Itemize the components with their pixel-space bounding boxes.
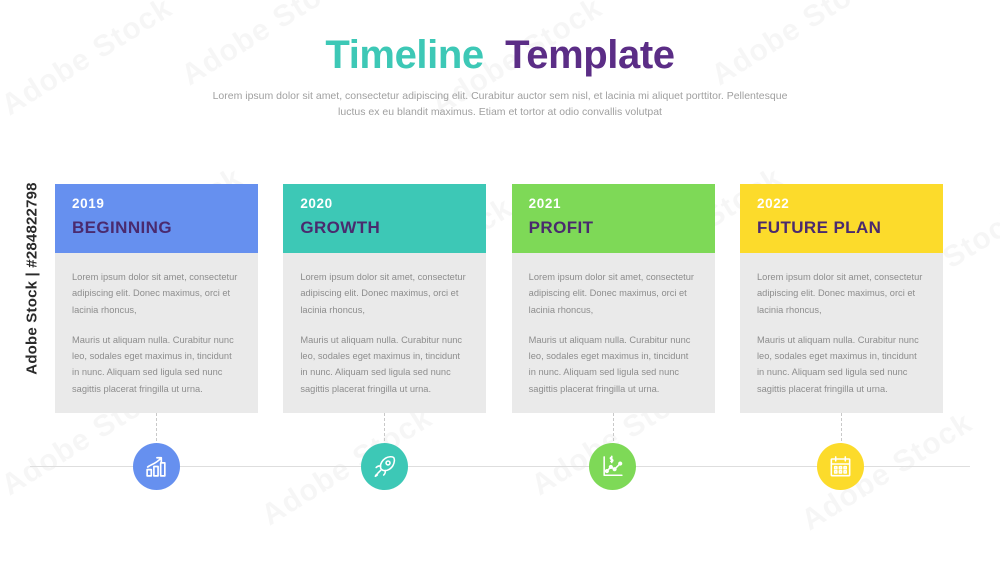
card-body: Lorem ipsum dolor sit amet, consectetur … [55, 253, 258, 413]
page-title: Timeline Template [0, 32, 1000, 78]
timeline-marker[interactable] [361, 443, 408, 490]
rocket-icon [372, 454, 397, 479]
timeline-marker[interactable] [589, 443, 636, 490]
card-title: GROWTH [300, 219, 486, 236]
card-title: BEGINNING [72, 219, 258, 236]
card-title: FUTURE PLAN [757, 219, 943, 236]
growth-chart-icon [144, 454, 169, 479]
page-header: Timeline Template Lorem ipsum dolor sit … [0, 32, 1000, 121]
card-paragraph: Lorem ipsum dolor sit amet, consectetur … [72, 269, 241, 318]
card-body: Lorem ipsum dolor sit amet, consectetur … [512, 253, 715, 413]
calendar-icon [828, 454, 853, 479]
profit-graph-icon [600, 454, 625, 479]
card-paragraph: Lorem ipsum dolor sit amet, consectetur … [757, 269, 926, 318]
page-subtitle: Lorem ipsum dolor sit amet, consectetur … [200, 88, 800, 121]
card-paragraph: Mauris ut aliquam nulla. Curabitur nunc … [72, 332, 241, 397]
card-year: 2022 [757, 197, 943, 211]
timeline-marker[interactable] [817, 443, 864, 490]
card-paragraph: Lorem ipsum dolor sit amet, consectetur … [529, 269, 698, 318]
card-paragraph: Mauris ut aliquam nulla. Curabitur nunc … [757, 332, 926, 397]
stock-credit-text: Adobe Stock | #284822798 [24, 129, 41, 429]
card-title: PROFIT [529, 219, 715, 236]
card-year: 2019 [72, 197, 258, 211]
card-header: 2022 FUTURE PLAN [740, 184, 943, 253]
card-paragraph: Mauris ut aliquam nulla. Curabitur nunc … [300, 332, 469, 397]
page-title-part-2: Template [505, 33, 674, 77]
card-header: 2020 GROWTH [283, 184, 486, 253]
card-header: 2021 PROFIT [512, 184, 715, 253]
card-paragraph: Lorem ipsum dolor sit amet, consectetur … [300, 269, 469, 318]
card-body: Lorem ipsum dolor sit amet, consectetur … [740, 253, 943, 413]
stock-credit-bar: Adobe Stock | #284822798 [0, 0, 40, 563]
card-year: 2020 [300, 197, 486, 211]
card-year: 2021 [529, 197, 715, 211]
card-paragraph: Mauris ut aliquam nulla. Curabitur nunc … [529, 332, 698, 397]
card-header: 2019 BEGINNING [55, 184, 258, 253]
timeline-marker[interactable] [133, 443, 180, 490]
page-title-part-1: Timeline [325, 33, 483, 77]
timeline-markers [55, 443, 943, 491]
card-body: Lorem ipsum dolor sit amet, consectetur … [283, 253, 486, 413]
